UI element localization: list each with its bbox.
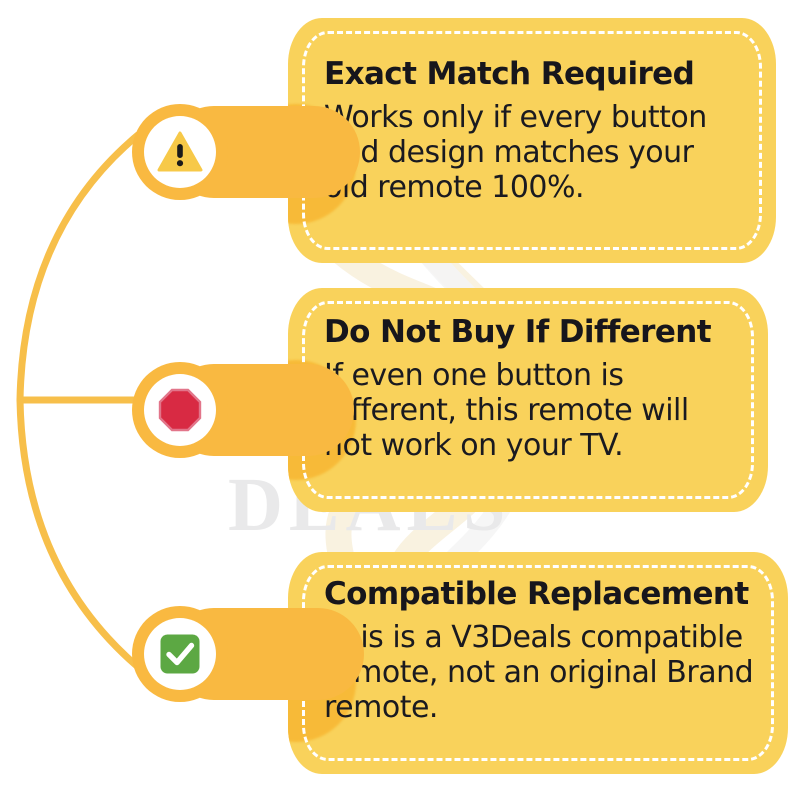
- badge-inner-circle: [144, 116, 216, 188]
- badge-do-not-buy-if-different: [132, 362, 228, 458]
- card-do-not-buy-if-different: Do Not Buy If Different If even one butt…: [288, 288, 768, 512]
- badge-inner-circle: [144, 618, 216, 690]
- badge-compatible-replacement: [132, 606, 228, 702]
- card-body: Do Not Buy If Different If even one butt…: [324, 316, 738, 463]
- card-exact-match-required: Exact Match Required Works only if every…: [288, 18, 776, 263]
- badge-inner-circle: [144, 374, 216, 446]
- badge-exact-match-required: [132, 104, 228, 200]
- card-description: If even one button is different, this re…: [324, 358, 738, 463]
- infographic-canvas: DEALS Exact Match Required Works only if…: [0, 0, 800, 800]
- card-title: Exact Match Required: [324, 58, 746, 91]
- check-square-icon: [159, 633, 201, 675]
- card-description: Works only if every button and design ma…: [324, 100, 746, 205]
- warning-triangle-icon: [157, 131, 203, 173]
- card-title: Compatible Replacement: [324, 578, 758, 611]
- card-body: Compatible Replacement This is a V3Deals…: [324, 578, 758, 725]
- card-title: Do Not Buy If Different: [324, 316, 738, 349]
- stop-octagon-icon: [158, 388, 202, 432]
- card-body: Exact Match Required Works only if every…: [324, 58, 746, 205]
- card-description: This is a V3Deals compatible remote, not…: [324, 620, 758, 725]
